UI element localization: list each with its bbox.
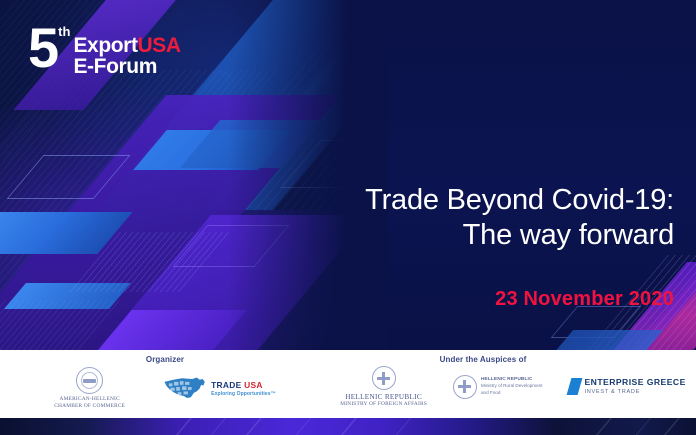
rural-line-2: Ministry of Rural Development [481,383,543,388]
greek-coat-of-arms-icon-2 [453,375,477,399]
strip-line-7 [583,418,619,435]
logo-line-2: E-Forum [73,56,180,77]
logo-american-hellenic-chamber: AMERICAN-HELLENIC CHAMBER OF COMMERCE [54,367,125,411]
enterprise-greece-line-1: ENTERPRISE GREECE [585,378,686,387]
chamber-label-line-1: AMERICAN-HELLENIC [54,396,125,403]
logo-trade-usa: TRADE USA Exploring Opportunities™ [163,375,276,402]
usa-map-icon [163,375,207,402]
strip-line-6 [383,418,418,435]
logo-ordinal-number: 5 [28,22,57,74]
trade-usa-line-1: TRADE USA [211,381,276,389]
bg-parallelogram-blue-br [555,330,663,352]
strip-line-3 [233,418,269,435]
event-banner: 5 th ExportUSA E-Forum Trade Beyond Covi… [0,0,696,435]
rural-text: HELLENIC REPUBLIC Ministry of Rural Deve… [481,376,543,397]
strip-line-8 [623,418,658,435]
organizer-heading: Organizer [0,350,330,364]
trade-usa-tagline: Exploring Opportunities™ [211,391,276,397]
strip-line-5 [328,418,364,435]
sponsor-footer: Organizer AMERICAN-HELLENIC CHAMBER OF C… [0,350,696,418]
mfa-line-2: MINISTRY OF FOREIGN AFFAIRS [340,401,427,407]
strip-line-9 [651,418,687,435]
logo-ministry-rural-development: HELLENIC REPUBLIC Ministry of Rural Deve… [453,375,543,399]
event-logo: 5 th ExportUSA E-Forum [28,22,181,77]
organizer-logos: AMERICAN-HELLENIC CHAMBER OF COMMERCE [0,367,330,411]
chamber-label: AMERICAN-HELLENIC CHAMBER OF COMMERCE [54,396,125,411]
rural-line-3: and Food [481,390,500,395]
logo-ministry-foreign-affairs: HELLENIC REPUBLIC MINISTRY OF FOREIGN AF… [340,366,427,407]
logo-ordinal-suffix: th [58,24,70,39]
enterprise-greece-line-2: INVEST & TRADE [585,389,686,395]
strip-line-2 [198,418,233,435]
greek-coat-of-arms-icon [372,366,396,390]
title-line-2: The way forward [365,218,674,253]
chamber-label-line-2: CHAMBER OF COMMERCE [54,403,125,410]
logo-line-1: ExportUSA [73,35,180,56]
enterprise-greece-mark-icon [566,378,582,395]
auspices-heading: Under the Auspices of [330,350,696,364]
logo-usa-text: USA [138,34,181,57]
event-title: Trade Beyond Covid-19: The way forward [365,183,674,254]
enterprise-greece-text: ENTERPRISE GREECE INVEST & TRADE [585,378,686,394]
auspices-section: Under the Auspices of HELLENIC REPUBLIC … [330,350,696,418]
logo-wordmark: ExportUSA E-Forum [73,35,180,77]
usa-map-svg [163,375,207,402]
trade-text: TRADE [211,380,241,390]
logo-enterprise-greece: ENTERPRISE GREECE INVEST & TRADE [569,378,686,395]
bottom-decorative-strip [0,418,696,435]
organizer-section: Organizer AMERICAN-HELLENIC CHAMBER OF C… [0,350,330,418]
logo-export-text: Export [73,34,137,57]
title-line-1: Trade Beyond Covid-19: [365,183,674,218]
trade-usa-accent: USA [244,380,263,390]
mfa-line-1: HELLENIC REPUBLIC [345,393,422,401]
trade-usa-text: TRADE USA Exploring Opportunities™ [211,381,276,397]
strip-line-4 [283,418,318,435]
strip-line-1 [163,418,199,435]
auspices-logos: HELLENIC REPUBLIC MINISTRY OF FOREIGN AF… [330,366,696,407]
rural-line-1: HELLENIC REPUBLIC [481,377,533,382]
chamber-seal-icon [76,367,103,394]
event-date: 23 November 2020 [495,288,674,311]
